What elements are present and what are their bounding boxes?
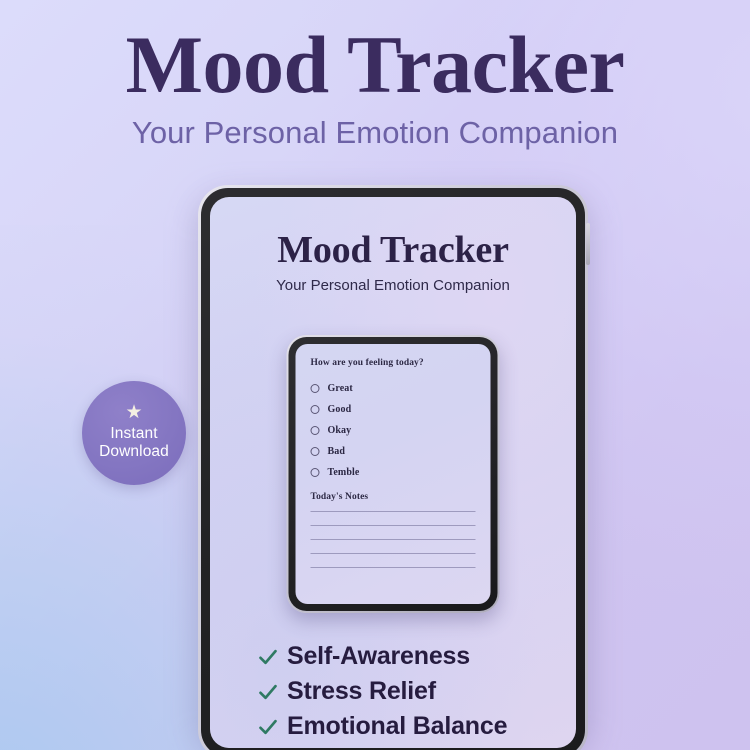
phone-device: How are you feeling today? Great Good — [287, 335, 500, 613]
mood-option-okay[interactable]: Okay — [311, 420, 476, 441]
mood-option-label: Bad — [328, 447, 346, 457]
note-line — [311, 553, 476, 554]
check-icon — [258, 647, 278, 667]
check-icon — [258, 717, 278, 737]
mood-option-label: Good — [328, 405, 352, 415]
tablet-screen-subtitle: Your Personal Emotion Companion — [210, 272, 576, 294]
mood-option-label: Okay — [328, 426, 352, 436]
tablet-device: Mood Tracker Your Personal Emotion Compa… — [198, 185, 588, 750]
tablet-screen-title: Mood Tracker — [210, 197, 576, 272]
feature-list: Self-Awareness Stress Relief Emotional B… — [210, 639, 576, 748]
radio-icon[interactable] — [311, 405, 320, 414]
note-line — [311, 567, 476, 568]
note-line — [311, 539, 476, 540]
mood-option-great[interactable]: Great — [311, 378, 476, 399]
mood-option-temble[interactable]: Temble — [311, 462, 476, 483]
badge-line-2: Download — [99, 443, 169, 461]
mood-option-label: Temble — [328, 468, 360, 478]
instant-download-badge[interactable]: ★ Instant Download — [82, 381, 186, 485]
mood-option-label: Great — [328, 384, 353, 394]
poster-canvas: Mood Tracker Your Personal Emotion Compa… — [0, 0, 750, 750]
phone-bezel: How are you feeling today? Great Good — [289, 337, 498, 611]
star-icon: ★ — [125, 403, 142, 422]
radio-icon[interactable] — [311, 468, 320, 477]
mood-option-bad[interactable]: Bad — [311, 441, 476, 462]
power-button[interactable] — [586, 223, 590, 265]
mood-options-list: Great Good Okay — [311, 378, 476, 483]
feature-item-self-awareness: Self-Awareness — [258, 639, 576, 674]
feature-item-stress-relief: Stress Relief — [258, 674, 576, 709]
check-icon — [258, 682, 278, 702]
page-title: Mood Tracker — [0, 0, 750, 109]
notes-input-area[interactable] — [311, 511, 476, 568]
feature-label: Stress Relief — [287, 679, 436, 704]
feature-label: Self-Awareness — [287, 644, 470, 669]
feature-label: Emotional Balance — [287, 714, 507, 739]
phone-screen: How are you feeling today? Great Good — [296, 344, 491, 604]
poster-header: Mood Tracker Your Personal Emotion Compa… — [0, 0, 750, 151]
radio-icon[interactable] — [311, 447, 320, 456]
tablet-screen: Mood Tracker Your Personal Emotion Compa… — [210, 197, 576, 748]
mood-option-good[interactable]: Good — [311, 399, 476, 420]
note-line — [311, 525, 476, 526]
page-subtitle: Your Personal Emotion Companion — [0, 109, 750, 151]
feature-item-emotional-balance: Emotional Balance — [258, 709, 576, 744]
radio-icon[interactable] — [311, 384, 320, 393]
note-line — [311, 511, 476, 512]
tablet-bezel: Mood Tracker Your Personal Emotion Compa… — [201, 188, 585, 750]
badge-line-1: Instant — [110, 425, 157, 443]
radio-icon[interactable] — [311, 426, 320, 435]
mood-question-label: How are you feeling today? — [311, 358, 476, 369]
notes-section-title: Today's Notes — [311, 492, 476, 503]
